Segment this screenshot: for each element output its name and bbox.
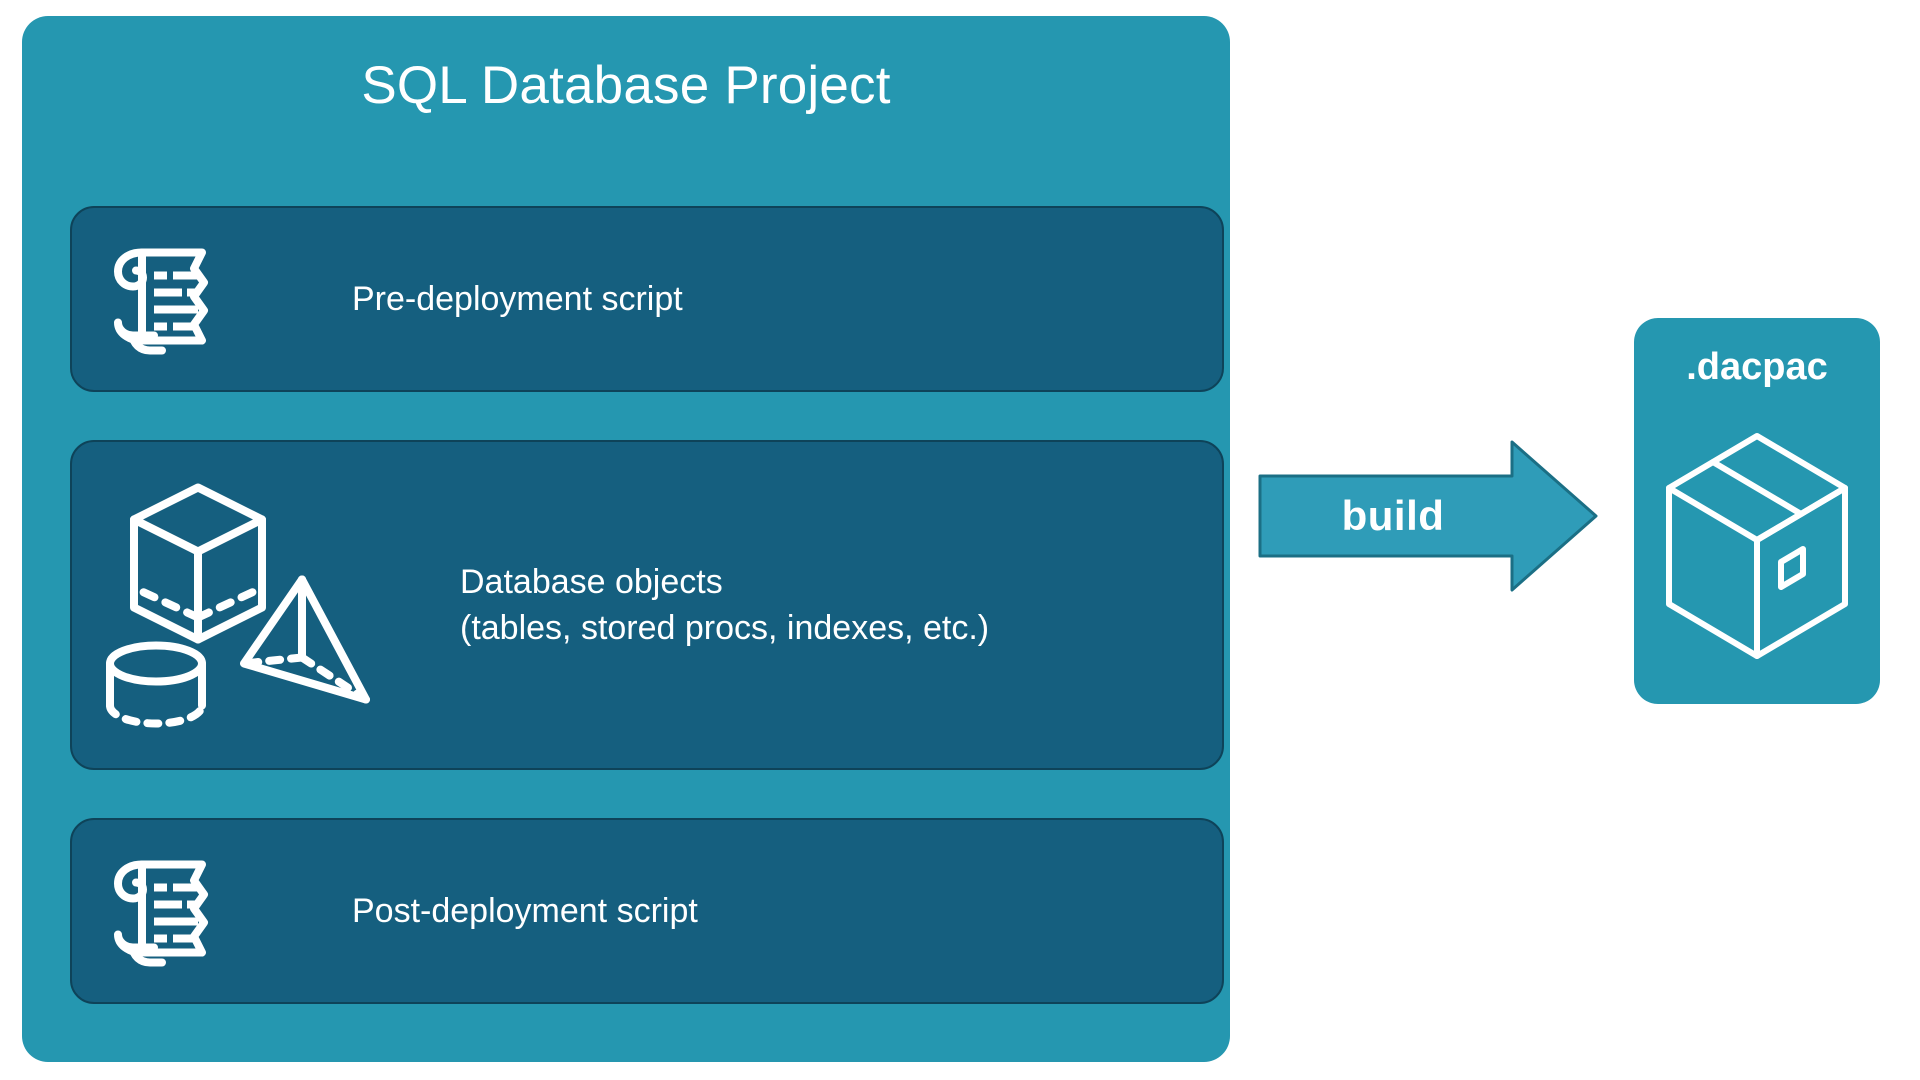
scroll-icon (98, 231, 230, 368)
card-label-pre-deployment-script: Pre-deployment script (352, 276, 683, 322)
card-database-objects[interactable]: Database objects (tables, stored procs, … (70, 440, 1224, 770)
page-title: SQL Database Project (22, 54, 1230, 118)
dacpac-title: .dacpac (1634, 344, 1880, 390)
build-arrow-icon (1258, 440, 1598, 592)
package-box-icon (1661, 422, 1853, 675)
card-pre-deployment-script[interactable]: Pre-deployment script (70, 206, 1224, 392)
dacpac-output-card[interactable]: .dacpac (1634, 318, 1880, 704)
card-label-post-deployment-script: Post-deployment script (352, 888, 698, 934)
database-objects-3d-shapes-icon (94, 468, 374, 743)
card-post-deployment-script[interactable]: Post-deployment script (70, 818, 1224, 1004)
card-label-database-objects: Database objects (tables, stored procs, … (460, 559, 989, 651)
diagram-canvas: SQL Database Project (0, 0, 1920, 1080)
sql-database-project-panel: SQL Database Project (22, 16, 1230, 1062)
scroll-icon (98, 843, 230, 980)
